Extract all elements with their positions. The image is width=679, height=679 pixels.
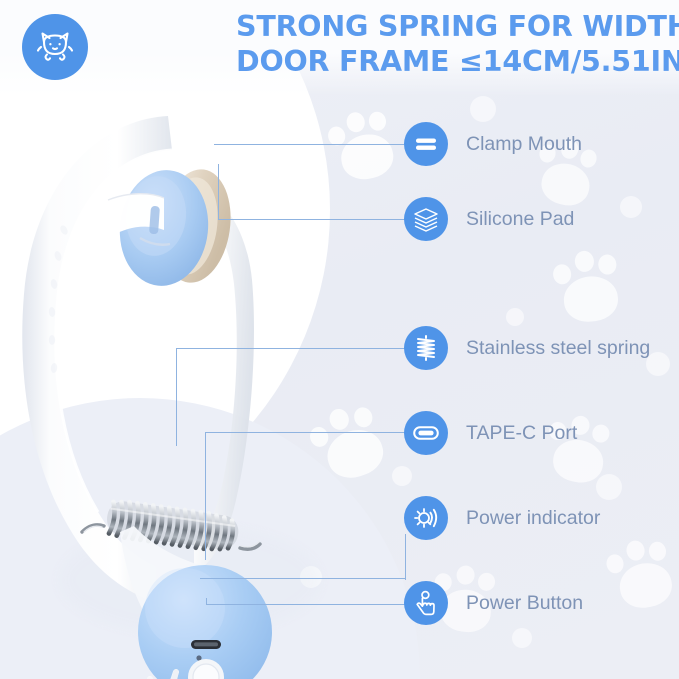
callout-label-silicone-pad: Silicone Pad	[466, 208, 574, 231]
callout-power-indicator[interactable]: Power indicator	[404, 496, 600, 540]
callout-tape-c-port[interactable]: TAPE-C Port	[404, 411, 577, 455]
usb-c-port	[191, 640, 221, 649]
callout-label-stainless-spring: Stainless steel spring	[466, 337, 650, 360]
callout-power-button[interactable]: Power Button	[404, 581, 583, 625]
tap-hand-icon	[404, 581, 448, 625]
usb-c-port-icon	[404, 411, 448, 455]
callout-silicone-pad[interactable]: Silicone Pad	[404, 197, 574, 241]
leader-line-power-button	[206, 598, 406, 606]
leader-line-usb-c	[205, 432, 406, 560]
headline-line-2: DOOR FRAME ≤14CM/5.51IN	[236, 45, 676, 80]
infographic-root: STRONG SPRING FOR WIDTH DOOR FRAME ≤14CM…	[0, 0, 679, 679]
callout-label-power-indicator: Power indicator	[466, 507, 600, 530]
silicone-pad-icon	[404, 197, 448, 241]
callout-stainless-spring[interactable]: Stainless steel spring	[404, 326, 650, 370]
leader-line-power-indicator	[200, 578, 406, 580]
leader-line-clamp-mouth	[214, 144, 404, 146]
page-title: STRONG SPRING FOR WIDTH DOOR FRAME ≤14CM…	[236, 10, 676, 80]
headline-line-1: STRONG SPRING FOR WIDTH	[236, 10, 676, 45]
leader-line-silicone-pad	[218, 164, 406, 220]
callout-label-power-button: Power Button	[466, 592, 583, 615]
power-indicator-icon	[404, 496, 448, 540]
clamp-mouth-icon	[404, 122, 448, 166]
callout-clamp-mouth[interactable]: Clamp Mouth	[404, 122, 582, 166]
callout-label-clamp-mouth: Clamp Mouth	[466, 133, 582, 156]
spring-icon	[404, 326, 448, 370]
cat-face-icon	[33, 25, 77, 69]
brand-logo	[22, 14, 88, 80]
leader-line-indicator-riser	[405, 534, 407, 580]
callout-label-tape-c-port: TAPE-C Port	[466, 422, 577, 445]
